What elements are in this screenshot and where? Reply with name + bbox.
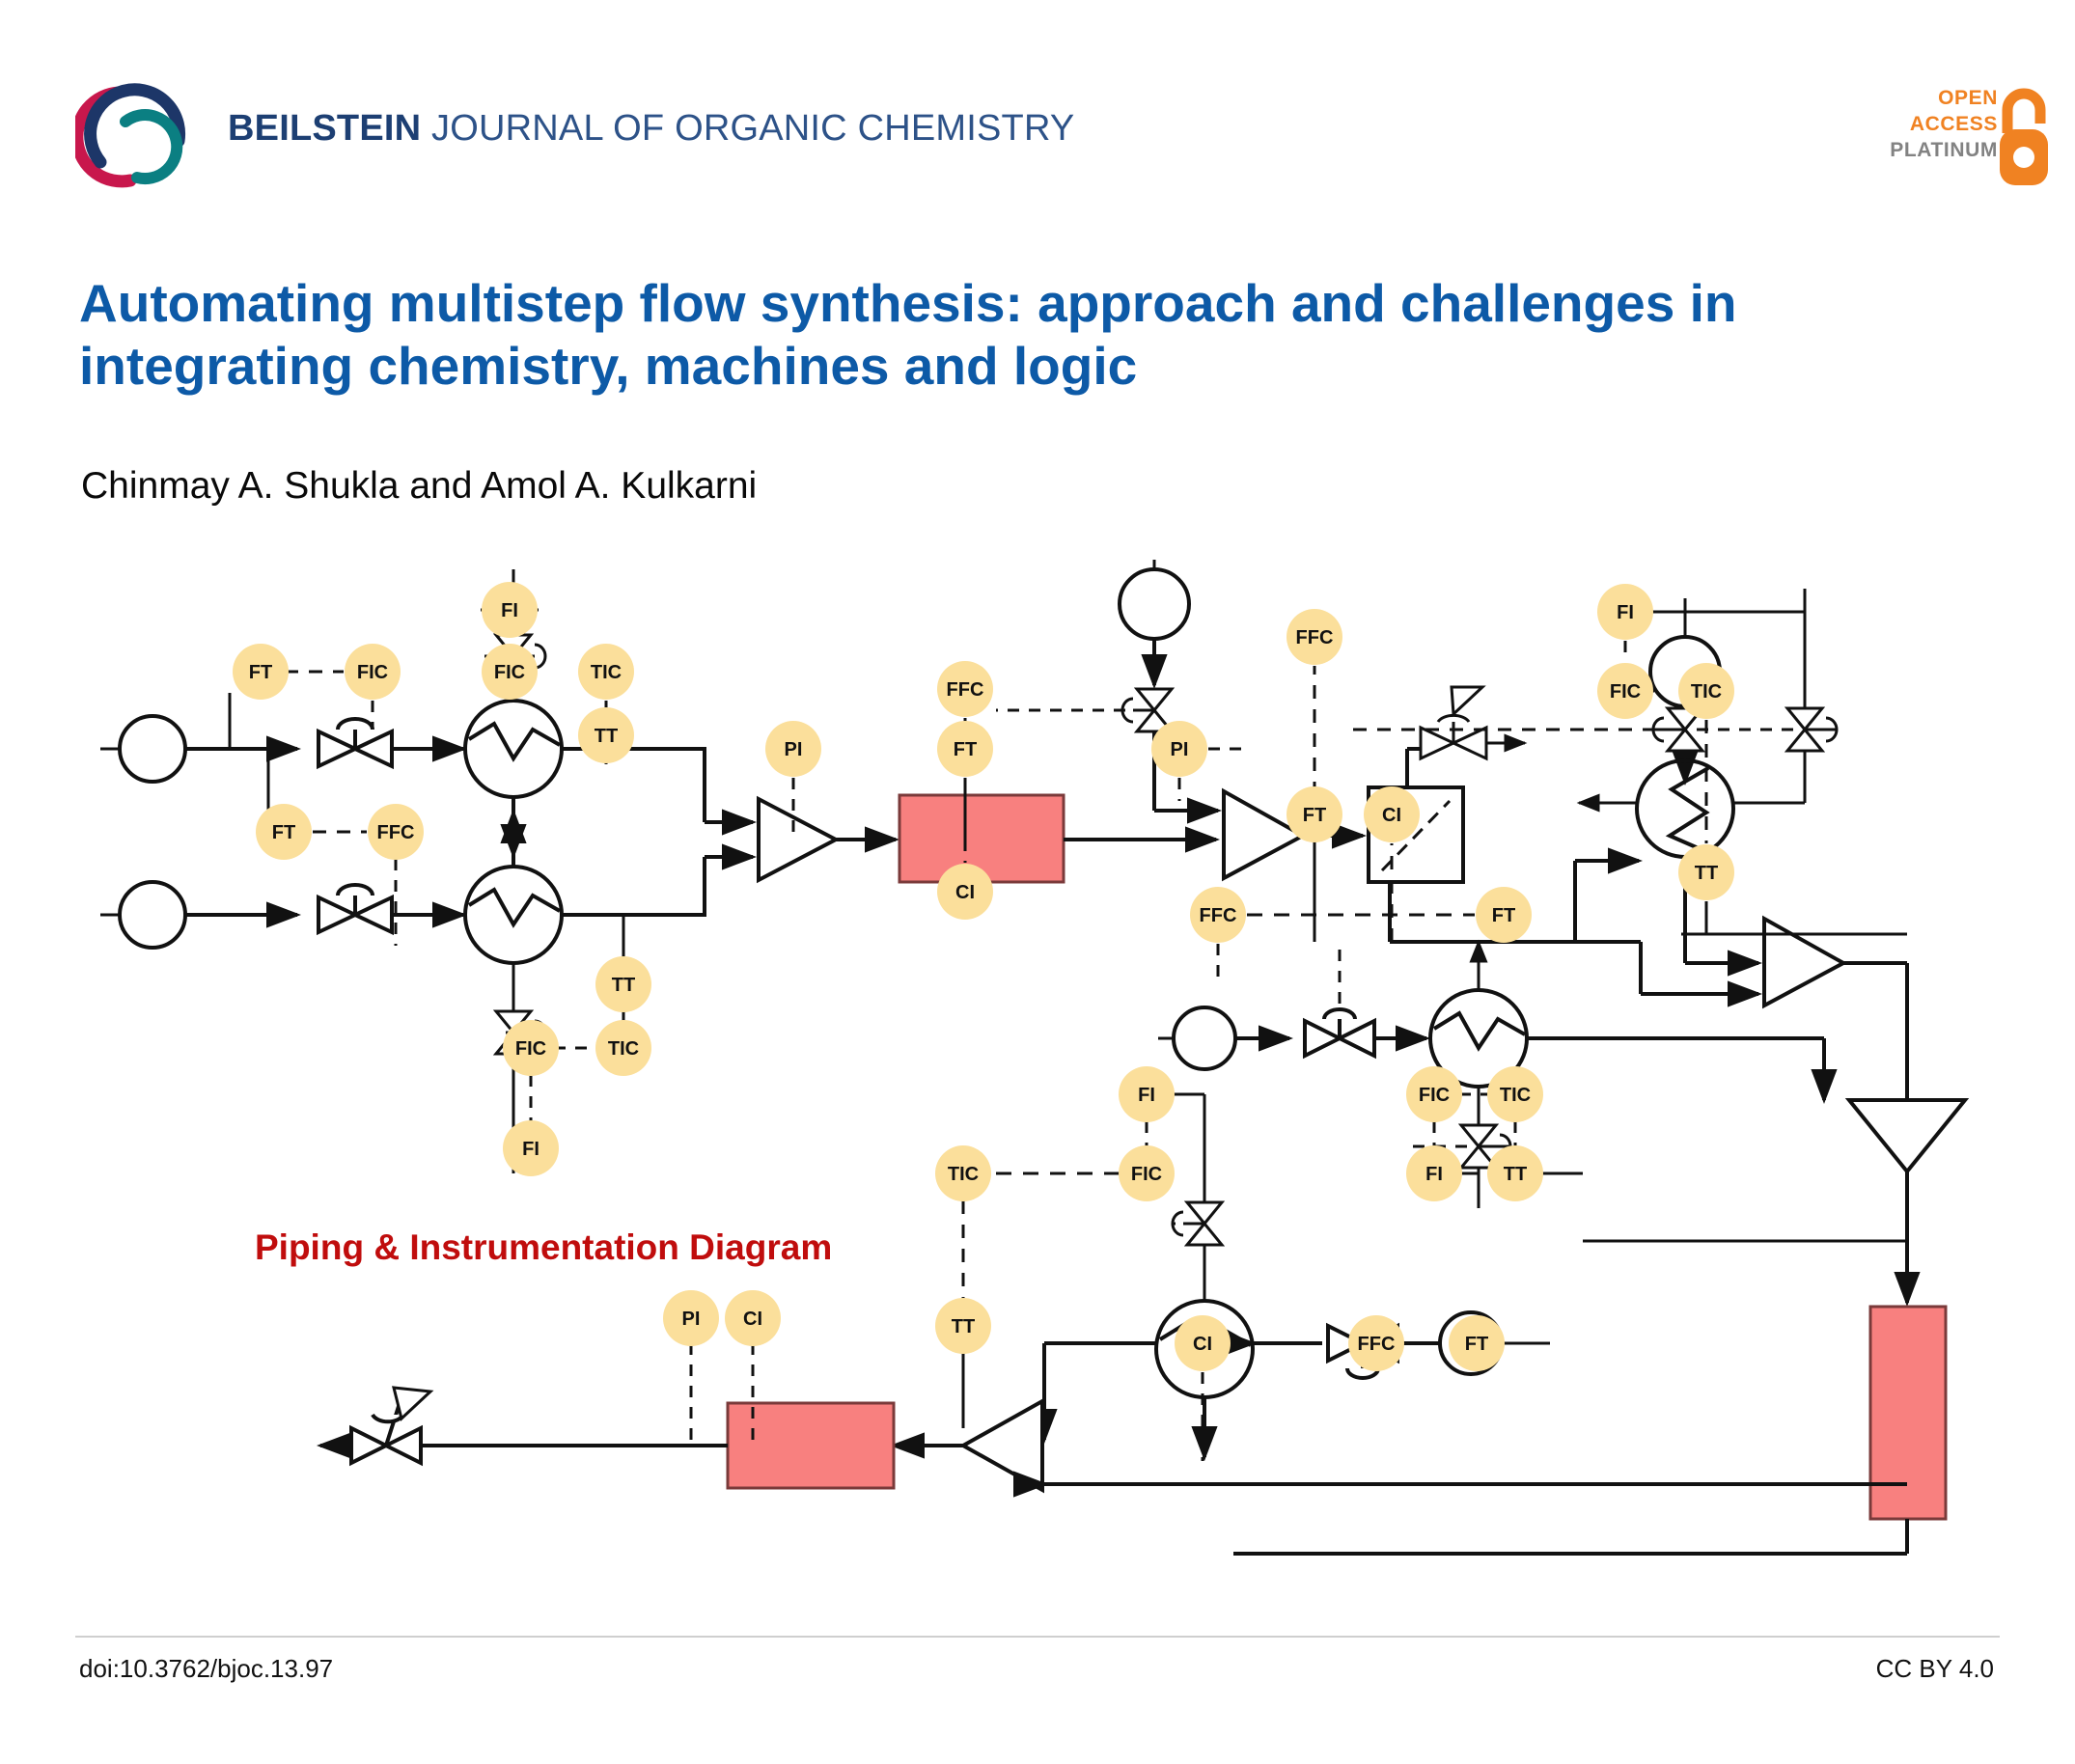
bubble-label: FT	[1492, 905, 1515, 926]
instrument-bubble-tic[interactable]: TIC	[595, 1020, 651, 1076]
bubble-label: TIC	[608, 1038, 639, 1060]
instrument-bubble-ft[interactable]: FT	[233, 644, 289, 700]
bubble-label: TIC	[1691, 681, 1722, 703]
journal-title-rest: JOURNAL OF ORGANIC CHEMISTRY	[431, 108, 1074, 149]
instrument-bubble-tic[interactable]: TIC	[1487, 1066, 1543, 1122]
bubble-label: CI	[743, 1309, 762, 1330]
bubble-label: FFC	[1296, 627, 1334, 648]
instrument-bubble-ffc[interactable]: FFC	[1348, 1315, 1404, 1371]
instrument-bubble-tic[interactable]: TIC	[1678, 663, 1734, 719]
oa-line-access: ACCESS	[1853, 111, 1998, 137]
footer-divider	[75, 1636, 2000, 1638]
open-access-badge: OPEN ACCESS PLATINUM	[1853, 85, 1998, 163]
bubble-label: FIC	[1610, 681, 1641, 703]
bubble-label: PI	[1171, 739, 1189, 760]
feed-pump-2	[120, 882, 185, 948]
instrument-bubble-fic[interactable]: FIC	[1119, 1145, 1175, 1201]
control-valve-4	[1173, 1202, 1222, 1245]
bubble-label: FI	[1138, 1085, 1155, 1106]
instrument-bubble-fic[interactable]: FIC	[503, 1020, 559, 1076]
instrument-bubble-tt[interactable]: TT	[578, 707, 634, 763]
oa-line-platinum: PLATINUM	[1853, 137, 1998, 163]
instrument-bubble-ci[interactable]: CI	[1364, 786, 1420, 842]
bubble-label: FI	[1425, 1164, 1443, 1185]
instrument-bubble-tt[interactable]: TT	[1487, 1145, 1543, 1201]
bubble-label: TT	[1504, 1164, 1527, 1185]
instrument-bubble-fi[interactable]: FI	[1406, 1145, 1462, 1201]
journal-title-bold: BEILSTEIN	[228, 108, 421, 149]
mixer-4	[963, 1401, 1042, 1490]
reactor-1	[899, 795, 1064, 882]
instrument-bubble-ft[interactable]: FT	[1476, 887, 1532, 943]
instrument-bubble-fic[interactable]: FIC	[1597, 663, 1653, 719]
bubble-label: FI	[522, 1139, 539, 1160]
instrument-bubble-pi[interactable]: PI	[765, 721, 821, 777]
journal-title: BEILSTEIN JOURNAL OF ORGANIC CHEMISTRY	[228, 108, 1074, 150]
license-text: CC BY 4.0	[1876, 1654, 1994, 1684]
instrument-bubble-ci[interactable]: CI	[1175, 1315, 1231, 1371]
heat-exchanger-2	[465, 867, 562, 963]
bubble-label: TIC	[1500, 1085, 1531, 1106]
bubble-label: FT	[1303, 805, 1326, 826]
heat-exchanger-1	[465, 701, 562, 797]
instrument-bubble-tic[interactable]: TIC	[578, 644, 634, 700]
bubble-label: CI	[955, 882, 975, 903]
bubble-label: FI	[501, 600, 518, 621]
bubble-label: PI	[785, 739, 803, 760]
instrument-bubble-fi[interactable]: FI	[1119, 1066, 1175, 1122]
feed-pump-1	[120, 716, 185, 782]
instrument-bubble-ft[interactable]: FT	[937, 721, 993, 777]
instrument-bubble-ffc[interactable]: FFC	[1286, 609, 1342, 665]
bubble-label: FT	[1465, 1334, 1488, 1355]
bubble-label: FFC	[377, 822, 415, 843]
instrument-bubble-pi[interactable]: PI	[1151, 721, 1207, 777]
relief-valve-separator	[1421, 687, 1525, 758]
bubble-label: FFC	[1358, 1334, 1396, 1355]
reactor-2	[1870, 1307, 1946, 1519]
bubble-label: CI	[1193, 1334, 1212, 1355]
bubble-label: TT	[595, 726, 618, 747]
mixer-1	[759, 799, 836, 880]
separator-funnel	[1849, 1100, 1965, 1171]
instrument-bubble-tt[interactable]: TT	[1678, 844, 1734, 900]
open-lock-icon	[1994, 81, 2054, 189]
bubble-label: FFC	[1200, 905, 1237, 926]
bubble-label: TIC	[948, 1164, 979, 1185]
bubble-label: PI	[682, 1309, 701, 1330]
instrument-bubble-tic[interactable]: TIC	[935, 1145, 991, 1201]
instrument-bubble-tt[interactable]: TT	[595, 956, 651, 1012]
instrument-bubble-pi[interactable]: PI	[663, 1290, 719, 1346]
instrument-bubble-ft[interactable]: FT	[256, 804, 312, 860]
instrument-bubble-ci[interactable]: CI	[725, 1290, 781, 1346]
instrument-bubble-fic[interactable]: FIC	[345, 644, 401, 700]
instrument-bubble-fi[interactable]: FI	[503, 1120, 559, 1176]
instrument-bubble-ft[interactable]: FT	[1286, 786, 1342, 842]
instrument-bubble-fic[interactable]: FIC	[482, 644, 538, 700]
control-valve-1	[318, 719, 392, 766]
control-valve-2	[318, 885, 392, 932]
bubble-label: TT	[612, 975, 635, 996]
instrument-bubble-fi[interactable]: FI	[1597, 584, 1653, 640]
pid-figure: FTFICFIFICTICTTFTFFCTTFICTICFIPIFFCFTCIP…	[77, 560, 1998, 1602]
bubble-label: FIC	[515, 1038, 546, 1060]
bubble-label: FT	[272, 822, 295, 843]
bubble-label: FT	[954, 739, 977, 760]
bubble-label: TT	[952, 1316, 975, 1337]
feed-pump-3	[1174, 1007, 1235, 1069]
bubble-label: FIC	[494, 662, 525, 683]
bubble-label: TIC	[591, 662, 622, 683]
pid-svg: FTFICFIFICTICTTFTFFCTTFICTICFIPIFFCFTCIP…	[77, 560, 1998, 1602]
control-valve-3	[1305, 1009, 1374, 1056]
mixer-3	[1764, 919, 1843, 1006]
article-cover-page: BEILSTEIN JOURNAL OF ORGANIC CHEMISTRY O…	[0, 0, 2075, 1764]
instrument-bubble-ffc[interactable]: FFC	[937, 661, 993, 717]
backpressure-regulator	[351, 1388, 430, 1463]
bubble-label: TT	[1695, 863, 1718, 884]
bubble-label: FI	[1617, 602, 1634, 623]
bubble-label: FIC	[1131, 1164, 1162, 1185]
instrument-bubble-tt[interactable]: TT	[935, 1298, 991, 1354]
bubble-label: CI	[1382, 805, 1401, 826]
bubble-label: FIC	[357, 662, 388, 683]
oa-line-open: OPEN	[1853, 85, 1998, 111]
instrument-bubble-ci[interactable]: CI	[937, 864, 993, 920]
bubble-label: FT	[249, 662, 272, 683]
instrument-bubble-ffc[interactable]: FFC	[368, 804, 424, 860]
instrument-bubble-fic[interactable]: FIC	[1406, 1066, 1462, 1122]
instrument-bubble-ft[interactable]: FT	[1449, 1315, 1505, 1371]
figure-caption: Piping & Instrumentation Diagram	[255, 1227, 832, 1267]
beilstein-logo	[75, 79, 189, 193]
page-title: Automating multistep flow synthesis: app…	[79, 272, 1913, 398]
bubble-label: FFC	[947, 679, 984, 701]
bubble-label: FIC	[1419, 1085, 1450, 1106]
page-header: BEILSTEIN JOURNAL OF ORGANIC CHEMISTRY O…	[0, 0, 2075, 207]
instrument-bubble-fi[interactable]: FI	[482, 582, 538, 638]
control-valve-quench-1	[1122, 689, 1172, 731]
authors: Chinmay A. Shukla and Amol A. Kulkarni	[81, 465, 757, 508]
doi-text: doi:10.3762/bjoc.13.97	[79, 1654, 333, 1684]
instrument-bubble-ffc[interactable]: FFC	[1190, 887, 1246, 943]
quench-pump	[1120, 569, 1189, 639]
